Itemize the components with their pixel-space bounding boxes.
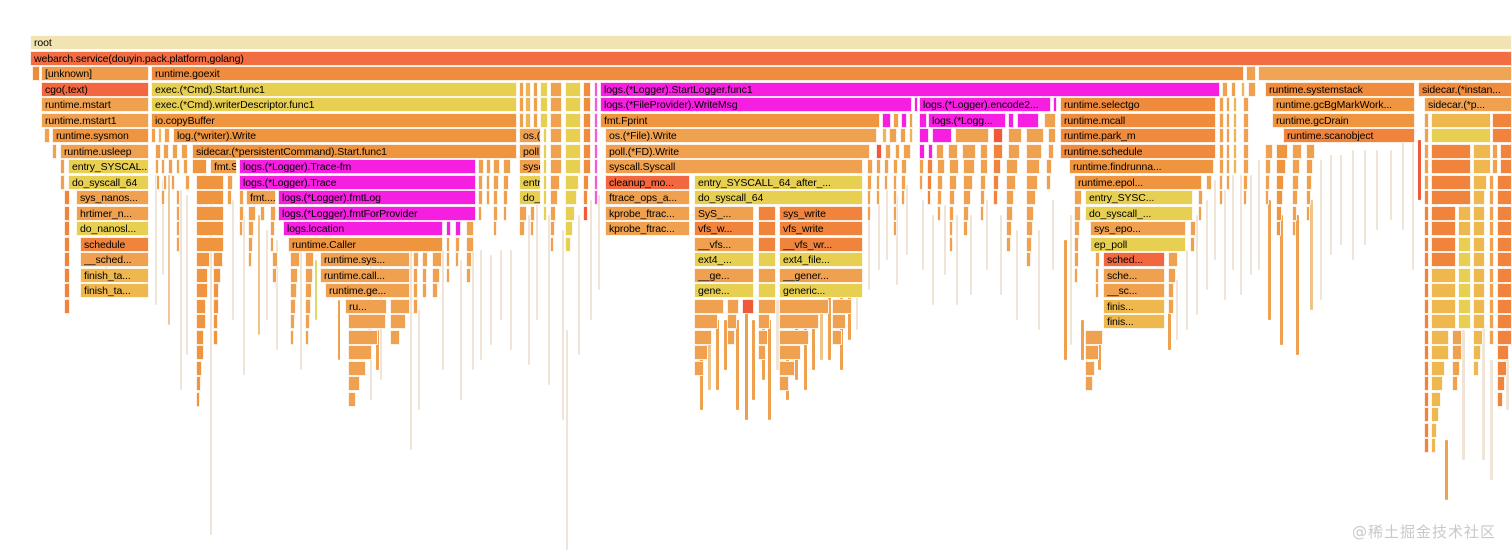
flame-frame-unlabeled[interactable] [550, 113, 562, 128]
flame-frame-unlabeled[interactable] [196, 361, 202, 376]
flame-frame-unlabeled[interactable] [1006, 190, 1014, 205]
flame-frame-unlabeled[interactable] [493, 175, 499, 190]
flame-frame-unlabeled[interactable] [422, 252, 428, 267]
flame-frame-unlabeled[interactable] [594, 175, 598, 190]
flame-frame-unlabeled[interactable] [993, 128, 1003, 143]
flame-frame-unlabeled[interactable] [1492, 159, 1498, 174]
flame-frame-unlabeled[interactable] [1219, 113, 1224, 128]
flame-frame-unlabeled[interactable] [1431, 283, 1456, 298]
flame-frame-unlabeled[interactable] [1431, 113, 1491, 128]
flame-frame-unlabeled[interactable] [1497, 376, 1505, 391]
flame-frame-unlabeled[interactable] [1497, 361, 1507, 376]
flame-frame[interactable]: logs.(*Logger).Trace [239, 175, 476, 190]
flame-frame-unlabeled[interactable] [832, 330, 842, 345]
flame-frame-unlabeled[interactable] [432, 283, 438, 298]
flame-frame-unlabeled[interactable] [742, 299, 754, 314]
flame-frame-unlabeled[interactable] [1473, 221, 1485, 236]
flame-frame[interactable]: logs.(*Logg... [928, 113, 1006, 128]
flame-sliver[interactable] [932, 215, 934, 305]
flame-frame-unlabeled[interactable] [565, 159, 581, 174]
flame-sliver[interactable] [1070, 215, 1072, 345]
flame-frame-unlabeled[interactable] [932, 128, 952, 143]
flame-frame-unlabeled[interactable] [155, 159, 159, 174]
flame-sliver[interactable] [956, 215, 958, 305]
flame-frame[interactable]: ep_poll [1090, 237, 1186, 252]
flame-frame-unlabeled[interactable] [1095, 252, 1100, 267]
flame-frame[interactable]: runtime.sysmon [52, 128, 149, 143]
flame-frame-unlabeled[interactable] [1306, 175, 1312, 190]
flame-frame-unlabeled[interactable] [1431, 345, 1449, 360]
flame-frame[interactable]: do_syscall_... [1085, 206, 1193, 221]
flame-frame-unlabeled[interactable] [519, 97, 524, 112]
flame-frame-unlabeled[interactable] [455, 221, 461, 236]
flame-sliver[interactable] [736, 320, 739, 410]
flame-frame-unlabeled[interactable] [937, 190, 942, 205]
flame-frame-unlabeled[interactable] [1424, 376, 1429, 391]
flame-frame-unlabeled[interactable] [1233, 159, 1237, 174]
flame-frame-unlabeled[interactable] [196, 376, 201, 391]
flame-frame-unlabeled[interactable] [196, 206, 224, 221]
flame-sliver[interactable] [578, 215, 580, 355]
flame-frame-unlabeled[interactable] [1424, 190, 1429, 205]
flame-frame-unlabeled[interactable] [1431, 190, 1471, 205]
flame-frame-unlabeled[interactable] [779, 361, 795, 376]
flame-frame-unlabeled[interactable] [32, 66, 40, 81]
flame-frame-unlabeled[interactable] [1226, 113, 1230, 128]
flame-frame-unlabeled[interactable] [1046, 175, 1051, 190]
flame-frame-unlabeled[interactable] [550, 206, 556, 221]
flame-frame-unlabeled[interactable] [1431, 237, 1456, 252]
flame-frame-unlabeled[interactable] [1044, 113, 1056, 128]
flame-frame-unlabeled[interactable] [1424, 407, 1429, 422]
flame-frame-unlabeled[interactable] [525, 113, 531, 128]
flame-sliver[interactable] [1250, 175, 1252, 275]
flame-frame-unlabeled[interactable] [1431, 392, 1441, 407]
flame-frame-unlabeled[interactable] [1006, 175, 1016, 190]
flame-frame[interactable]: runtime.goexit [151, 66, 1244, 81]
flame-frame-unlabeled[interactable] [937, 206, 941, 221]
flame-frame[interactable]: schedule [80, 237, 149, 252]
flame-frame-unlabeled[interactable] [758, 237, 776, 252]
flame-frame[interactable]: runtime.scanobject [1283, 128, 1415, 143]
flame-frame-unlabeled[interactable] [1473, 175, 1487, 190]
flame-frame-unlabeled[interactable] [503, 159, 511, 174]
flame-frame[interactable]: sidecar.(*instan... [1418, 82, 1512, 97]
flame-frame-unlabeled[interactable] [519, 113, 524, 128]
flame-frame[interactable]: runtime.mstart1 [41, 113, 149, 128]
flame-frame-unlabeled[interactable] [594, 159, 598, 174]
flame-frame-unlabeled[interactable] [1497, 252, 1512, 267]
flame-sliver[interactable] [1268, 200, 1271, 320]
flame-frame[interactable]: do_... [519, 190, 541, 205]
flame-frame-unlabeled[interactable] [758, 345, 766, 360]
flame-frame-unlabeled[interactable] [867, 175, 872, 190]
flame-frame-unlabeled[interactable] [176, 190, 180, 205]
flame-frame-unlabeled[interactable] [1489, 237, 1494, 252]
flame-sliver[interactable] [232, 200, 234, 320]
flame-frame[interactable]: entry_SYSC... [1085, 190, 1193, 205]
flame-frame[interactable]: vfs_w... [694, 221, 754, 236]
flame-frame-unlabeled[interactable] [503, 175, 509, 190]
flame-frame-unlabeled[interactable] [196, 175, 224, 190]
flame-frame-unlabeled[interactable] [519, 221, 525, 236]
flame-frame-unlabeled[interactable] [1458, 283, 1471, 298]
flame-frame-unlabeled[interactable] [1497, 175, 1512, 190]
flame-frame-unlabeled[interactable] [1431, 423, 1437, 438]
flame-frame[interactable]: ru... [345, 299, 387, 314]
flame-sliver[interactable] [300, 250, 302, 370]
flame-frame-unlabeled[interactable] [980, 175, 986, 190]
flame-frame-unlabeled[interactable] [466, 252, 472, 267]
flame-frame-unlabeled[interactable] [503, 190, 508, 205]
flame-sliver[interactable] [1038, 230, 1040, 330]
flame-frame[interactable]: entr... [519, 175, 541, 190]
flame-frame-unlabeled[interactable] [176, 237, 180, 252]
flame-frame-unlabeled[interactable] [550, 237, 554, 252]
flame-frame-unlabeled[interactable] [1243, 97, 1249, 112]
flame-frame[interactable]: finish_ta... [80, 283, 149, 298]
flame-frame-unlabeled[interactable] [525, 82, 531, 97]
flame-frame-unlabeled[interactable] [550, 221, 555, 236]
flame-frame-unlabeled[interactable] [64, 283, 70, 298]
flame-sliver[interactable] [442, 250, 444, 370]
flame-frame-unlabeled[interactable] [1008, 128, 1022, 143]
flame-frame-unlabeled[interactable] [1226, 159, 1230, 174]
flame-sliver[interactable] [1310, 200, 1313, 310]
flame-frame-unlabeled[interactable] [1265, 159, 1271, 174]
flame-sliver[interactable] [1296, 215, 1299, 355]
flame-frame-unlabeled[interactable] [1473, 330, 1483, 345]
flame-frame-unlabeled[interactable] [565, 128, 581, 143]
flame-frame-unlabeled[interactable] [889, 128, 897, 143]
flame-frame-unlabeled[interactable] [270, 221, 275, 236]
flame-sliver[interactable] [510, 250, 512, 350]
flame-sliver[interactable] [480, 250, 482, 360]
flame-frame[interactable]: runtime.schedule [1060, 144, 1216, 159]
flame-frame-unlabeled[interactable] [446, 237, 450, 252]
flame-frame-unlabeled[interactable] [1431, 407, 1439, 422]
flame-frame-unlabeled[interactable] [1497, 314, 1512, 329]
flame-frame-unlabeled[interactable] [1431, 361, 1445, 376]
flame-frame-unlabeled[interactable] [779, 330, 809, 345]
flame-sliver[interactable] [1340, 155, 1342, 245]
flame-frame-unlabeled[interactable] [1292, 221, 1296, 236]
flame-frame-unlabeled[interactable] [213, 252, 223, 267]
flame-frame-unlabeled[interactable] [196, 314, 206, 329]
flame-frame-unlabeled[interactable] [305, 330, 309, 345]
flame-frame-unlabeled[interactable] [758, 299, 776, 314]
flame-frame-unlabeled[interactable] [980, 206, 984, 221]
flame-frame-unlabeled[interactable] [901, 175, 906, 190]
flame-frame-unlabeled[interactable] [493, 221, 497, 236]
flame-frame-unlabeled[interactable] [272, 268, 277, 283]
flame-frame-unlabeled[interactable] [466, 237, 474, 252]
flame-frame-unlabeled[interactable] [348, 376, 360, 391]
flame-sliver[interactable] [490, 255, 492, 345]
flame-frame-unlabeled[interactable] [503, 206, 507, 221]
flame-frame-unlabeled[interactable] [1233, 144, 1237, 159]
flame-frame-unlabeled[interactable] [446, 268, 450, 283]
flame-frame-unlabeled[interactable] [466, 221, 474, 236]
flame-frame-unlabeled[interactable] [727, 299, 739, 314]
flame-frame-unlabeled[interactable] [172, 144, 178, 159]
flame-frame-unlabeled[interactable] [1497, 283, 1512, 298]
flame-frame-unlabeled[interactable] [993, 144, 1003, 159]
flame-frame-unlabeled[interactable] [993, 159, 1001, 174]
flame-frame-unlabeled[interactable] [1219, 190, 1223, 205]
flame-frame-unlabeled[interactable] [1431, 268, 1456, 283]
flame-frame-unlabeled[interactable] [1233, 128, 1237, 143]
flame-frame[interactable]: syscal... [519, 159, 541, 174]
flame-frame-unlabeled[interactable] [1452, 345, 1462, 360]
flame-frame[interactable]: #f0843c [1424, 221, 1429, 236]
flame-frame-unlabeled[interactable] [1085, 376, 1093, 391]
flame-frame-unlabeled[interactable] [533, 82, 538, 97]
flame-frame-unlabeled[interactable] [305, 314, 310, 329]
flame-frame-unlabeled[interactable] [583, 159, 591, 174]
flame-sliver[interactable] [752, 320, 755, 400]
flame-frame-unlabeled[interactable] [1198, 206, 1202, 221]
flame-frame-unlabeled[interactable] [1492, 144, 1498, 159]
flame-sliver[interactable] [1214, 180, 1216, 260]
flame-frame-unlabeled[interactable] [1424, 345, 1429, 360]
flame-frame-unlabeled[interactable] [290, 299, 296, 314]
flame-frame-unlabeled[interactable] [550, 159, 562, 174]
flame-sliver[interactable] [1320, 160, 1322, 300]
flame-frame-unlabeled[interactable] [937, 175, 943, 190]
flame-frame-unlabeled[interactable] [694, 361, 704, 376]
flame-frame-unlabeled[interactable] [565, 175, 579, 190]
flame-frame[interactable]: runtime.findrunna... [1069, 159, 1214, 174]
flame-sliver[interactable] [180, 190, 182, 390]
flame-frame[interactable]: runtime.sys... [320, 252, 410, 267]
flame-frame-unlabeled[interactable] [1489, 175, 1494, 190]
flame-frame-unlabeled[interactable] [64, 237, 70, 252]
flame-frame-unlabeled[interactable] [348, 345, 372, 360]
flame-frame-unlabeled[interactable] [1008, 113, 1014, 128]
flame-sliver[interactable] [210, 205, 212, 535]
flame-sliver[interactable] [418, 310, 420, 410]
flame-frame[interactable]: ext4_... [694, 252, 754, 267]
flame-frame-unlabeled[interactable] [163, 144, 169, 159]
flame-frame-unlabeled[interactable] [565, 221, 573, 236]
flame-frame[interactable]: runtime.gcBgMarkWork... [1272, 97, 1415, 112]
flame-frame-unlabeled[interactable] [1424, 252, 1429, 267]
flame-frame-unlabeled[interactable] [583, 82, 591, 97]
flame-frame-unlabeled[interactable] [1424, 423, 1429, 438]
flame-frame-unlabeled[interactable] [1473, 159, 1491, 174]
flame-sliver[interactable] [970, 215, 972, 295]
flame-frame-unlabeled[interactable] [176, 159, 180, 174]
flame-frame-unlabeled[interactable] [213, 283, 219, 298]
flame-frame-unlabeled[interactable] [1006, 237, 1011, 252]
flame-frame-unlabeled[interactable] [1085, 345, 1099, 360]
flame-frame[interactable]: runtime.park_m [1060, 128, 1216, 143]
flame-frame-unlabeled[interactable] [1219, 97, 1224, 112]
flame-frame-unlabeled[interactable] [478, 206, 482, 221]
flame-frame[interactable]: logs.(*Logger).StartLogger.func1 [600, 82, 1220, 97]
flame-sliver[interactable] [1376, 150, 1378, 230]
flame-sliver[interactable] [315, 260, 317, 320]
flame-frame-unlabeled[interactable] [1026, 159, 1040, 174]
flame-frame[interactable]: runtime.Caller [288, 237, 443, 252]
flame-frame-unlabeled[interactable] [1074, 268, 1078, 283]
flame-sliver[interactable] [155, 175, 157, 305]
flame-frame-unlabeled[interactable] [1497, 299, 1512, 314]
flame-frame-unlabeled[interactable] [1292, 144, 1302, 159]
flame-frame[interactable]: sys_nanos... [76, 190, 149, 205]
flame-sliver[interactable] [186, 195, 188, 355]
flame-frame-unlabeled[interactable] [1458, 206, 1471, 221]
flame-sliver[interactable] [1016, 230, 1018, 320]
flame-frame[interactable]: __vfs... [694, 237, 754, 252]
flame-frame-unlabeled[interactable] [533, 97, 538, 112]
flame-frame-unlabeled[interactable] [176, 206, 180, 221]
flame-frame-unlabeled[interactable] [1424, 128, 1429, 143]
flame-frame-unlabeled[interactable] [1497, 206, 1512, 221]
flame-frame-unlabeled[interactable] [64, 221, 70, 236]
flame-frame-unlabeled[interactable] [914, 97, 918, 112]
flame-frame[interactable]: exec.(*Cmd).Start.func1 [151, 82, 517, 97]
flame-frame[interactable]: sys_epo... [1090, 221, 1186, 236]
flame-frame-unlabeled[interactable] [1053, 97, 1057, 112]
flame-frame[interactable]: sidecar.(*persistentCommand).Start.func1 [192, 144, 517, 159]
flame-frame-unlabeled[interactable] [980, 159, 988, 174]
flame-frame-unlabeled[interactable] [1248, 82, 1256, 97]
flame-sliver[interactable] [266, 230, 268, 320]
flame-frame-unlabeled[interactable] [963, 221, 968, 236]
flame-frame-unlabeled[interactable] [1017, 113, 1039, 128]
flame-frame-unlabeled[interactable] [1026, 128, 1044, 143]
flame-frame-unlabeled[interactable] [432, 252, 442, 267]
flame-frame-unlabeled[interactable] [270, 237, 274, 252]
flame-frame[interactable]: os.(*Fil... [519, 128, 541, 143]
flame-frame-unlabeled[interactable] [1026, 144, 1042, 159]
flame-frame-unlabeled[interactable] [530, 221, 534, 236]
flame-frame-unlabeled[interactable] [1243, 159, 1249, 174]
flame-frame-unlabeled[interactable] [1222, 82, 1228, 97]
flame-frame-unlabeled[interactable] [936, 144, 944, 159]
flame-frame-unlabeled[interactable] [1424, 159, 1429, 174]
flame-sliver[interactable] [168, 175, 170, 325]
flame-frame-unlabeled[interactable] [901, 113, 907, 128]
flame-frame-unlabeled[interactable] [1026, 252, 1031, 267]
flame-frame[interactable]: runtime.mcall [1060, 113, 1216, 128]
flame-frame-unlabeled[interactable] [893, 175, 897, 190]
flame-sliver[interactable] [1224, 190, 1226, 300]
flame-frame-unlabeled[interactable] [478, 159, 484, 174]
flame-frame[interactable]: finis... [1103, 314, 1165, 329]
flame-frame-unlabeled[interactable] [478, 175, 483, 190]
flame-sliver[interactable] [566, 330, 568, 550]
flame-frame[interactable]: runtime.selectgo [1060, 97, 1216, 112]
flame-frame-unlabeled[interactable] [1226, 97, 1230, 112]
flame-frame-unlabeled[interactable] [60, 175, 65, 190]
flame-frame-unlabeled[interactable] [176, 221, 180, 236]
flame-frame-unlabeled[interactable] [1473, 283, 1485, 298]
flame-frame-unlabeled[interactable] [168, 159, 173, 174]
flame-sliver[interactable] [1081, 320, 1084, 360]
flame-frame[interactable]: do_nanosl... [76, 221, 149, 236]
flame-frame-unlabeled[interactable] [1095, 268, 1099, 283]
flame-frame-unlabeled[interactable] [963, 206, 969, 221]
flame-frame-unlabeled[interactable] [1497, 237, 1512, 252]
flame-frame-unlabeled[interactable] [1085, 330, 1103, 345]
flame-frame-unlabeled[interactable] [1424, 206, 1429, 221]
flame-frame-unlabeled[interactable] [422, 283, 427, 298]
flame-frame-unlabeled[interactable] [248, 206, 256, 221]
flame-frame-unlabeled[interactable] [885, 144, 891, 159]
flame-frame-unlabeled[interactable] [290, 283, 297, 298]
flame-frame-unlabeled[interactable] [272, 252, 278, 267]
flame-sliver[interactable] [410, 250, 412, 450]
flame-frame-unlabeled[interactable] [1424, 361, 1429, 376]
flame-frame-unlabeled[interactable] [1168, 268, 1176, 283]
flame-frame-unlabeled[interactable] [1473, 268, 1485, 283]
flame-frame-unlabeled[interactable] [1473, 190, 1485, 205]
flame-frame[interactable]: runtime.epol... [1074, 175, 1202, 190]
flame-frame-unlabeled[interactable] [1424, 330, 1429, 345]
flame-frame[interactable]: finish_ta... [80, 268, 149, 283]
flame-sliver[interactable] [460, 260, 462, 400]
flame-sliver[interactable] [1240, 175, 1242, 295]
flame-frame[interactable]: root [30, 35, 1512, 50]
flame-frame-unlabeled[interactable] [949, 175, 957, 190]
flame-frame-unlabeled[interactable] [565, 82, 581, 97]
flame-frame-unlabeled[interactable] [1074, 237, 1079, 252]
flame-frame-unlabeled[interactable] [227, 175, 233, 190]
flame-frame-unlabeled[interactable] [1424, 392, 1429, 407]
flame-frame-unlabeled[interactable] [893, 159, 898, 174]
flame-frame[interactable]: ftrace_ops_a... [605, 190, 690, 205]
flame-frame-unlabeled[interactable] [1276, 159, 1286, 174]
flame-frame-unlabeled[interactable] [1292, 159, 1300, 174]
flame-frame-unlabeled[interactable] [1074, 252, 1079, 267]
flame-frame-unlabeled[interactable] [867, 190, 871, 205]
flame-frame-unlabeled[interactable] [980, 190, 985, 205]
flame-frame-unlabeled[interactable] [1473, 345, 1481, 360]
flame-sliver[interactable] [1352, 150, 1354, 260]
flame-frame-unlabeled[interactable] [455, 252, 459, 267]
flame-frame-unlabeled[interactable] [1026, 175, 1038, 190]
flame-frame-unlabeled[interactable] [1473, 252, 1485, 267]
flame-frame-unlabeled[interactable] [1489, 314, 1494, 329]
flame-frame-unlabeled[interactable] [1292, 175, 1299, 190]
flame-sliver[interactable] [886, 190, 888, 260]
flame-frame-unlabeled[interactable] [900, 128, 906, 143]
flame-frame[interactable]: sched... [1103, 252, 1165, 267]
flame-frame-unlabeled[interactable] [1431, 128, 1491, 143]
flame-frame-unlabeled[interactable] [196, 268, 208, 283]
flame-frame-unlabeled[interactable] [1219, 159, 1224, 174]
flame-frame-unlabeled[interactable] [540, 113, 548, 128]
flame-frame[interactable]: vfs_write [779, 221, 863, 236]
flame-frame-unlabeled[interactable] [290, 252, 300, 267]
flame-frame-unlabeled[interactable] [980, 144, 988, 159]
flame-frame-unlabeled[interactable] [239, 190, 244, 205]
flame-frame[interactable]: logs.(*Logger).fmtForProvider [278, 206, 476, 221]
flame-frame-unlabeled[interactable] [486, 190, 490, 205]
flame-frame-unlabeled[interactable] [694, 314, 718, 329]
flame-frame-unlabeled[interactable] [1190, 221, 1196, 236]
flame-frame[interactable]: runtime.gcDrain [1272, 113, 1415, 128]
flame-frame-unlabeled[interactable] [248, 252, 252, 267]
flame-frame-unlabeled[interactable] [903, 144, 911, 159]
flame-frame[interactable]: __sc... [1103, 283, 1165, 298]
flame-frame-unlabeled[interactable] [1473, 314, 1485, 329]
flame-frame-unlabeled[interactable] [1458, 299, 1471, 314]
flame-frame-unlabeled[interactable] [565, 206, 575, 221]
